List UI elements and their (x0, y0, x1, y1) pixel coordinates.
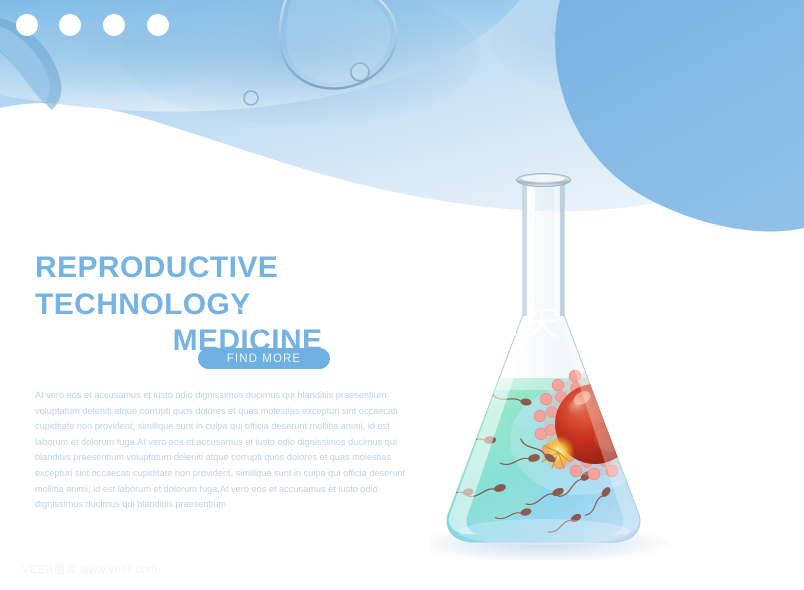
header-dot-3 (103, 14, 125, 36)
header-dot-4 (147, 14, 169, 36)
body-paragraph: At vero eos et accusamus et iusto odio d… (35, 388, 425, 513)
watermark-overlay-center: 沃天 (487, 296, 563, 345)
watermark-footer: VEER图库 www.veer.com (22, 561, 157, 577)
banner-canvas: REPRODUCTIVE TECHNOLOGY MEDICINE FIND MO… (0, 0, 804, 590)
watermark-overlay-mid: 沃天 (236, 300, 294, 337)
find-more-button[interactable]: FIND MORE (198, 348, 330, 369)
header-dot-1 (16, 14, 38, 36)
header-dot-2 (59, 14, 81, 36)
